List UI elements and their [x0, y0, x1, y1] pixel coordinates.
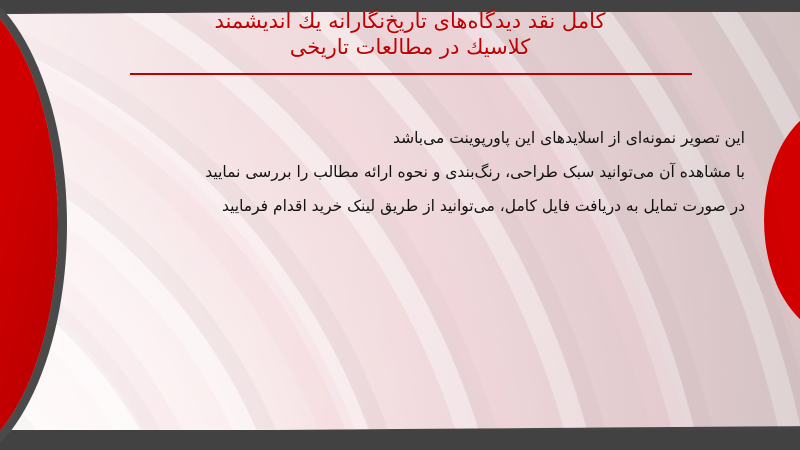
- left-red-lens-decoration: [0, 0, 75, 450]
- slide-body-text: این تصویر نمونه‌ای از اسلایدهای این پاور…: [90, 121, 745, 223]
- right-red-ellipse-shape: [764, 104, 800, 336]
- slide-title-line-1: کامل نقد دیدگاه‌های تاریخ‌نگارانه یك اند…: [80, 8, 740, 34]
- presentation-slide: کامل نقد دیدگاه‌های تاریخ‌نگارانه یك اند…: [0, 0, 800, 450]
- slide-title: کامل نقد دیدگاه‌های تاریخ‌نگارانه یك اند…: [80, 8, 740, 60]
- right-red-ellipse-decoration: [754, 0, 800, 450]
- body-line-2: با مشاهده آن می‌توانید سبک طراحی، رنگ‌بن…: [90, 155, 745, 189]
- slide-title-line-2: کلاسیك در مطالعات تاریخی: [80, 34, 740, 60]
- bottom-frame-band: [0, 430, 800, 450]
- body-line-3: در صورت تمایل به دریافت فایل کامل، می‌تو…: [90, 189, 745, 223]
- left-red-lens-shape: [0, 0, 58, 450]
- body-line-1: این تصویر نمونه‌ای از اسلایدهای این پاور…: [90, 121, 745, 155]
- title-underline-rule: [130, 73, 692, 75]
